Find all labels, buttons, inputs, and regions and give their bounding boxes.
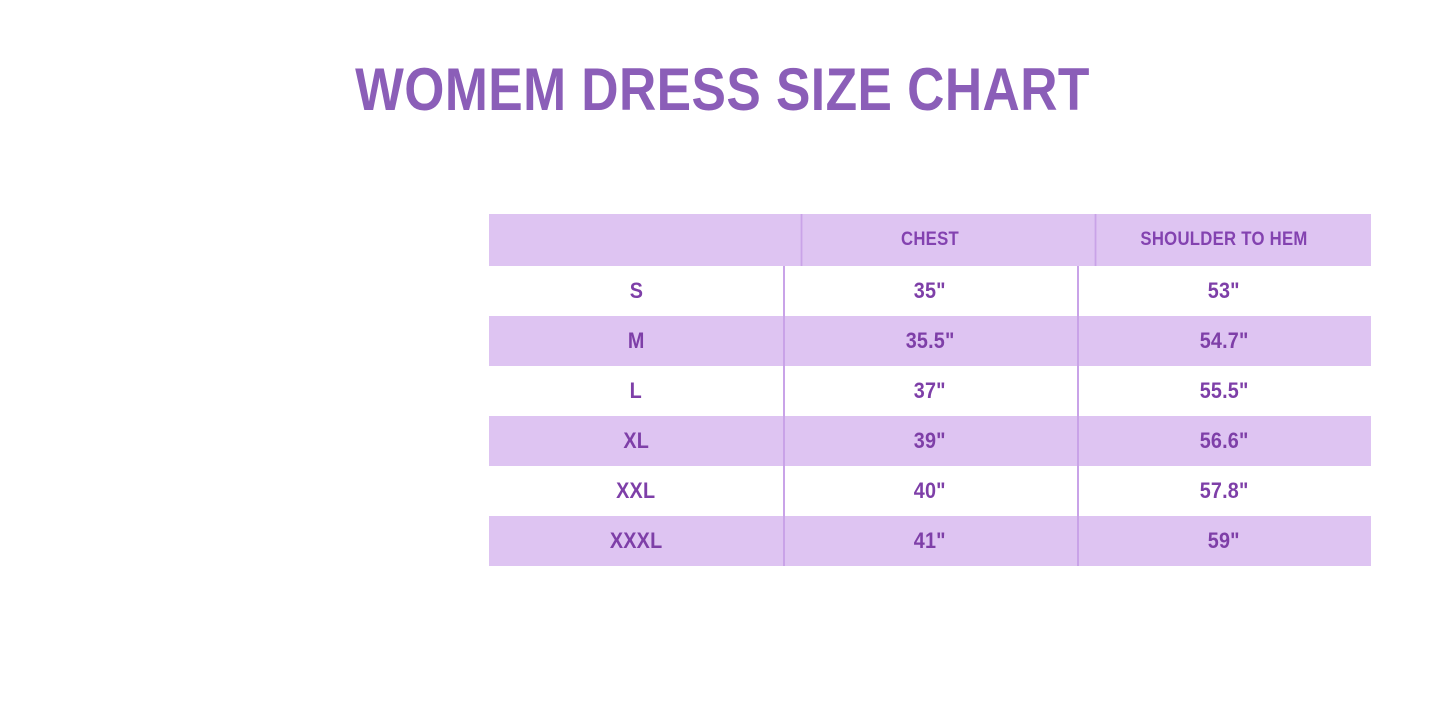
table-header: CHEST SHOULDER TO HEM bbox=[489, 214, 1371, 266]
cell-shoulder-to-hem: 59" bbox=[1077, 516, 1371, 566]
chest-value: 35.5" bbox=[906, 328, 955, 354]
hem-value: 57.8" bbox=[1200, 478, 1249, 504]
table-row: XXL 40" 57.8" bbox=[489, 466, 1371, 516]
cell-size: XXXL bbox=[489, 516, 783, 566]
column-header-size bbox=[507, 214, 766, 266]
hem-value: 56.6" bbox=[1200, 428, 1249, 454]
cell-size: XXL bbox=[489, 466, 783, 516]
cell-size: L bbox=[489, 366, 783, 416]
hem-value: 53" bbox=[1208, 278, 1240, 304]
chest-value: 35" bbox=[914, 278, 946, 304]
table-body: S 35" 53" M 35.5" 54.7" bbox=[489, 266, 1371, 566]
cell-shoulder-to-hem: 56.6" bbox=[1077, 416, 1371, 466]
cell-size: XL bbox=[489, 416, 783, 466]
chest-value: 41" bbox=[914, 528, 946, 554]
hem-value: 59" bbox=[1208, 528, 1240, 554]
cell-chest: 37" bbox=[783, 366, 1077, 416]
size-label: M bbox=[628, 328, 645, 354]
chest-value: 40" bbox=[914, 478, 946, 504]
chest-value: 37" bbox=[914, 378, 946, 404]
hem-value: 55.5" bbox=[1200, 378, 1249, 404]
table-row: L 37" 55.5" bbox=[489, 366, 1371, 416]
cell-size: M bbox=[489, 316, 783, 366]
hem-value: 54.7" bbox=[1200, 328, 1249, 354]
chest-value: 39" bbox=[914, 428, 946, 454]
size-label: XL bbox=[623, 428, 649, 454]
cell-shoulder-to-hem: 54.7" bbox=[1077, 316, 1371, 366]
table-row: XXXL 41" 59" bbox=[489, 516, 1371, 566]
cell-chest: 35" bbox=[783, 266, 1077, 316]
cell-shoulder-to-hem: 53" bbox=[1077, 266, 1371, 316]
cell-chest: 39" bbox=[783, 416, 1077, 466]
table-row: XL 39" 56.6" bbox=[489, 416, 1371, 466]
size-label: S bbox=[629, 278, 642, 304]
column-header-chest: CHEST bbox=[801, 214, 1060, 266]
size-label: XXL bbox=[616, 478, 655, 504]
column-header-shoulder-to-hem: SHOULDER TO HEM bbox=[1095, 214, 1354, 266]
cell-shoulder-to-hem: 55.5" bbox=[1077, 366, 1371, 416]
cell-size: S bbox=[489, 266, 783, 316]
cell-chest: 40" bbox=[783, 466, 1077, 516]
cell-chest: 41" bbox=[783, 516, 1077, 566]
page-title: WOMEM DRESS SIZE CHART bbox=[101, 54, 1344, 126]
size-chart-page: WOMEM DRESS SIZE CHART CHEST SHOULDER TO… bbox=[0, 0, 1445, 723]
size-label: L bbox=[630, 378, 642, 404]
cell-chest: 35.5" bbox=[783, 316, 1077, 366]
size-chart-table: CHEST SHOULDER TO HEM S 35" 53" M bbox=[489, 214, 1371, 566]
table-row: M 35.5" 54.7" bbox=[489, 316, 1371, 366]
cell-shoulder-to-hem: 57.8" bbox=[1077, 466, 1371, 516]
size-label: XXXL bbox=[610, 528, 662, 554]
table-header-row: CHEST SHOULDER TO HEM bbox=[489, 214, 1371, 266]
table-row: S 35" 53" bbox=[489, 266, 1371, 316]
